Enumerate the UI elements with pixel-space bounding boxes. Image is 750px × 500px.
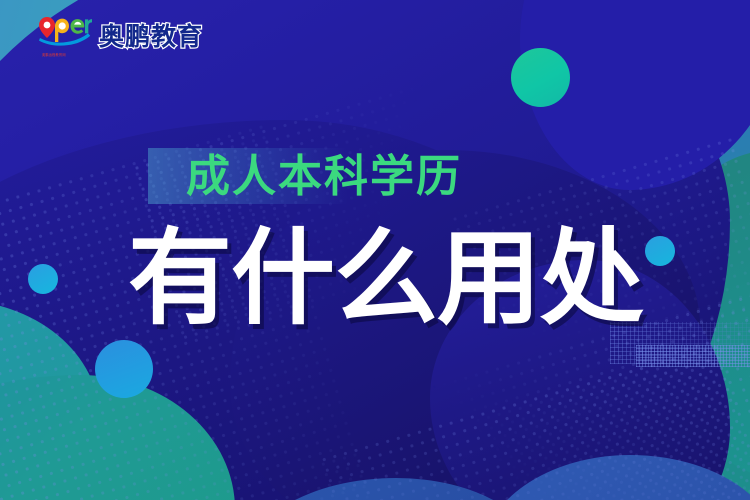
circle-accent-cyan-large	[95, 340, 153, 398]
circle-accent-green	[511, 48, 570, 107]
headline-text: 有什么用处	[128, 222, 643, 334]
open-logo-icon: 奥鹏远程教育网	[36, 14, 92, 58]
open-logo-tagline: 奥鹏远程教育网	[42, 54, 66, 57]
circle-accent-cyan-right	[645, 236, 675, 266]
promo-banner: 奥鹏远程教育网 奥鹏教育 成人本科学历 有什么用处	[0, 0, 750, 500]
grid-pattern-band-inner	[636, 345, 750, 367]
circle-accent-cyan-small	[28, 264, 58, 294]
subtitle-text: 成人本科学历	[186, 150, 462, 204]
brand-name: 奥鹏教育	[99, 24, 203, 49]
brand-logo[interactable]: 奥鹏远程教育网 奥鹏教育	[36, 14, 203, 58]
